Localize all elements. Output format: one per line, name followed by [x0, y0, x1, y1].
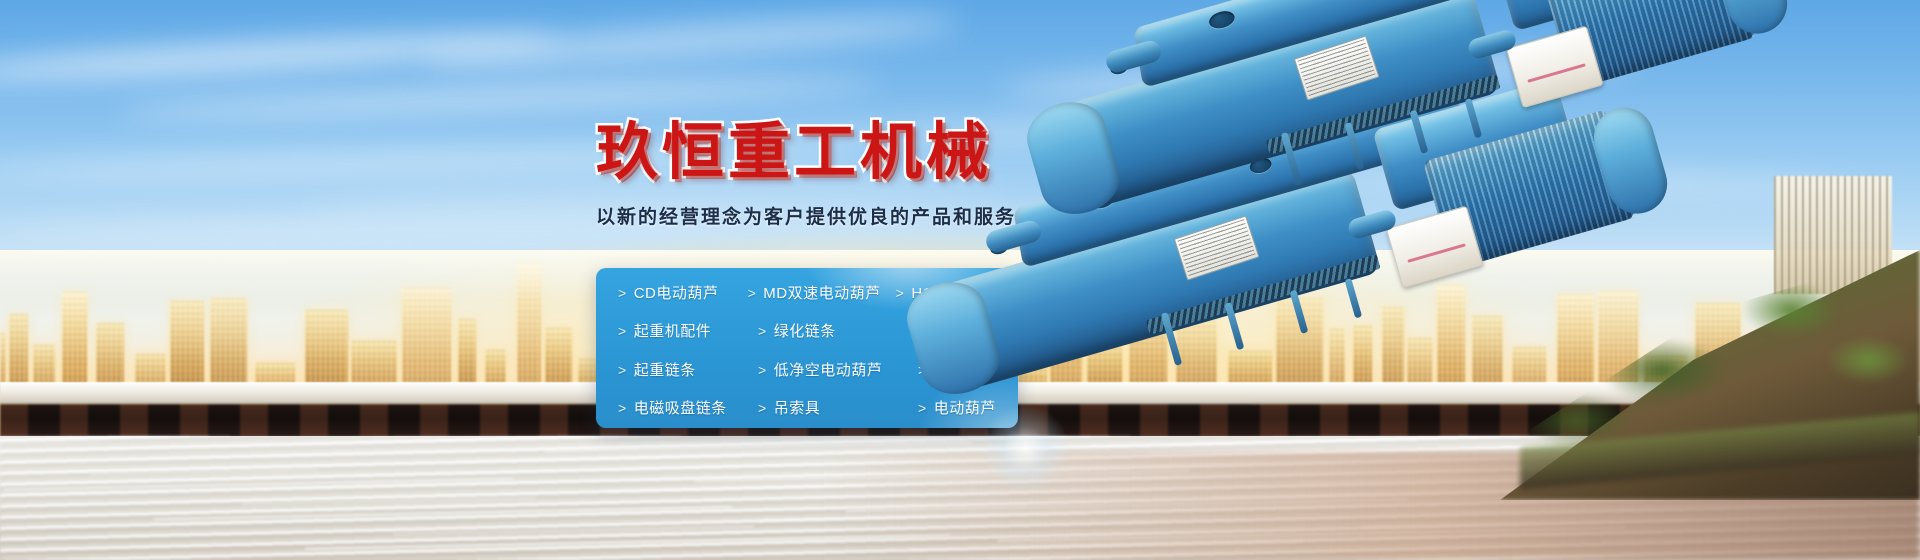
- chevron-right-icon: >: [618, 285, 627, 301]
- chevron-right-icon: >: [758, 323, 767, 339]
- chevron-right-icon: >: [758, 400, 767, 416]
- road-motion-streak: [91, 469, 318, 476]
- product-link-label: 低净空电动葫芦: [774, 359, 883, 380]
- product-link-8[interactable]: >低净空电动葫芦: [758, 359, 918, 380]
- product-link-label: 绿化链条: [774, 320, 836, 341]
- chevron-right-icon: >: [618, 323, 627, 339]
- product-link-label: MD双速电动葫芦: [763, 282, 880, 303]
- product-link-10[interactable]: >电磁吸盘链条: [618, 397, 758, 418]
- road-motion-streak: [0, 440, 100, 445]
- road-motion-streak: [456, 456, 648, 462]
- skyline-building: [402, 288, 451, 393]
- chevron-right-icon: >: [618, 362, 627, 378]
- skyline-building: [305, 310, 348, 393]
- chevron-right-icon: >: [748, 285, 757, 301]
- rope-guide-arm: [1289, 290, 1308, 334]
- skyline-building: [62, 292, 87, 393]
- product-link-7[interactable]: >起重链条: [618, 359, 758, 380]
- skyline-building: [210, 298, 247, 393]
- hoist-junction-box: [1506, 25, 1604, 108]
- road-motion-streak: [154, 506, 732, 520]
- product-link-label: 吊索具: [774, 397, 821, 418]
- product-link-label: 起重链条: [634, 359, 696, 380]
- page-title: 玖恒重工机械: [596, 120, 1066, 186]
- rope-guide-arm: [1464, 98, 1482, 138]
- rope-guide-arm: [1344, 278, 1362, 318]
- product-link-label: 电磁吸盘链条: [634, 397, 727, 418]
- product-link-label: 起重机配件: [634, 320, 712, 341]
- chevron-right-icon: >: [758, 362, 767, 378]
- electric-hoist-product-photo: [1020, 40, 1920, 510]
- rope-guide-arm: [1409, 110, 1428, 154]
- skyline-building: [517, 263, 541, 393]
- product-link-2[interactable]: >MD双速电动葫芦: [748, 282, 896, 303]
- product-link-label: CD电动葫芦: [634, 282, 719, 303]
- road-motion-streak: [3, 478, 514, 491]
- product-link-4[interactable]: >起重机配件: [618, 320, 758, 341]
- road-motion-streak: [544, 442, 972, 453]
- skyline-building: [170, 301, 204, 393]
- product-link-1[interactable]: >CD电动葫芦: [618, 282, 748, 303]
- road-motion-streak: [393, 525, 754, 535]
- hero-banner: 玖恒重工机械 以新的经营理念为客户提供优良的产品和服务 >CD电动葫芦>MD双速…: [0, 0, 1920, 560]
- road-motion-streak: [242, 497, 536, 505]
- chevron-right-icon: >: [618, 400, 627, 416]
- hoist-junction-box: [1386, 205, 1484, 288]
- product-link-11[interactable]: >吊索具: [758, 397, 918, 418]
